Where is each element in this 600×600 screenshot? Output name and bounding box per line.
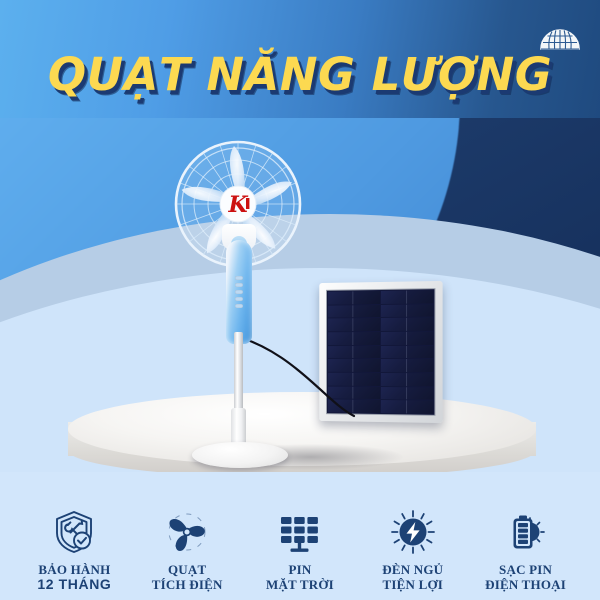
feature-line1: BẢO HÀNH bbox=[38, 562, 110, 577]
feature-rechargeable-fan-label: QUẠT TÍCH ĐIỆN bbox=[135, 562, 239, 592]
feature-solar[interactable]: PIN MẶT TRỜI bbox=[248, 507, 352, 592]
page-title: QUẠT NĂNG LƯỢNG bbox=[0, 48, 600, 101]
night-light-icon bbox=[361, 507, 465, 557]
feature-line2: TÍCH ĐIỆN bbox=[135, 577, 239, 592]
dome-globe-logo bbox=[538, 18, 582, 54]
fan-button[interactable] bbox=[235, 304, 243, 308]
feature-warranty[interactable]: BẢO HÀNH 12 THÁNG bbox=[22, 507, 126, 592]
fan-blades-icon bbox=[135, 507, 239, 557]
feature-line1: SẠC PIN bbox=[499, 562, 552, 577]
feature-line1: QUẠT bbox=[168, 562, 206, 577]
solar-stand-fan: K bbox=[168, 136, 308, 470]
feature-line2: MẶT TRỜI bbox=[248, 577, 352, 592]
shield-warranty-icon bbox=[22, 507, 126, 557]
feature-row: BẢO HÀNH 12 THÁNG bbox=[0, 507, 600, 592]
poster: QUẠT NĂNG LƯỢNG bbox=[0, 0, 600, 600]
solar-panel-icon bbox=[248, 507, 352, 557]
feature-phone-charging[interactable]: SẠC PIN ĐIỆN THOẠI bbox=[474, 507, 578, 592]
feature-line2: 12 THÁNG bbox=[22, 577, 126, 592]
feature-solar-label: PIN MẶT TRỜI bbox=[248, 562, 352, 592]
fan-base bbox=[192, 442, 288, 468]
fan-button[interactable] bbox=[235, 290, 243, 294]
feature-line2: ĐIỆN THOẠI bbox=[474, 577, 578, 592]
feature-phone-charging-label: SẠC PIN ĐIỆN THOẠI bbox=[474, 562, 578, 592]
feature-night-light-label: ĐÈN NGỦ TIỆN LỢI bbox=[361, 562, 465, 592]
fan-power-cable bbox=[238, 332, 358, 452]
battery-charge-icon bbox=[474, 507, 578, 557]
fan-brand-mark: K bbox=[227, 192, 248, 218]
feature-line2: TIỆN LỢI bbox=[361, 577, 465, 592]
feature-warranty-label: BẢO HÀNH 12 THÁNG bbox=[22, 562, 126, 592]
fan-button[interactable] bbox=[235, 297, 243, 301]
feature-rechargeable-fan[interactable]: QUẠT TÍCH ĐIỆN bbox=[135, 507, 239, 592]
feature-line1: ĐÈN NGỦ bbox=[382, 562, 443, 577]
feature-night-light[interactable]: ĐÈN NGỦ TIỆN LỢI bbox=[361, 507, 465, 592]
fan-button[interactable] bbox=[235, 276, 243, 280]
fan-button[interactable] bbox=[235, 283, 243, 287]
feature-line1: PIN bbox=[288, 562, 311, 577]
